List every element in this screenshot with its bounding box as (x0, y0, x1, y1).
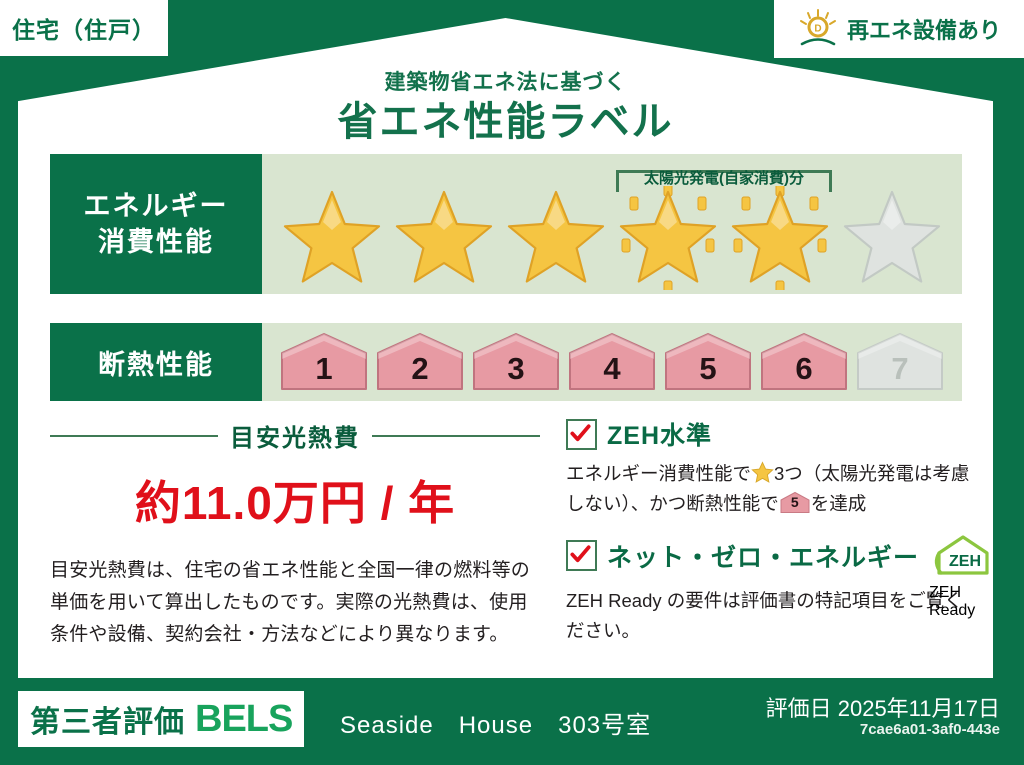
renewable-chip-text: 再エネ設備あり (847, 13, 1001, 45)
house-level-on: 6 (758, 331, 850, 393)
property-name: Seaside House 303号室 (340, 705, 651, 740)
zeh-logo-text: ZEH (949, 553, 981, 570)
label-title-block: 建築物省エネ法に基づく 省エネ性能ラベル (18, 70, 993, 147)
house-level-number: 3 (470, 351, 562, 387)
zeh-ready-logo: ZEH ZEH Ready (929, 533, 1001, 579)
insulation-performance-row: 断熱性能 1 2 3 4 5 (50, 323, 962, 401)
house-level-off: 7 (854, 331, 946, 393)
bels-jp-text: 第三者評価 (30, 697, 185, 741)
checkbox-checked-icon (566, 540, 597, 571)
utility-cost-note: 目安光熱費は、住宅の省エネ性能と全国一律の燃料等の単価を用いて算出したものです。… (50, 555, 540, 651)
sun-icon: D (797, 8, 839, 50)
house-level-number: 4 (566, 351, 658, 387)
star-empty (840, 186, 944, 290)
energy-performance-label: 住宅（住戸） D 再エネ設備あり 建築物省エネ法に基づく (0, 0, 1024, 765)
zeh-standard-header: ZEH水準 (566, 416, 978, 452)
house-level-on: 2 (374, 331, 466, 393)
house-level-on: 1 (278, 331, 370, 393)
insulation-label-text: 断熱性能 (98, 343, 214, 382)
net-zero-energy-item: ネット・ゼロ・エネルギー ZEH ZEH Ready (566, 533, 978, 646)
zeh-standard-description: エネルギー消費性能で3つ（太陽光発電は考慮しない）、かつ断熱性能で5を達成 (566, 459, 978, 519)
utility-cost-value: 約11.0万円 / 年 (50, 467, 540, 533)
star-icon (751, 461, 774, 484)
star-filled (392, 186, 496, 290)
energy-performance-label: エネルギー 消費性能 (50, 154, 262, 294)
house-level-on: 3 (470, 331, 562, 393)
zeh-desc-star-count: 3つ (774, 463, 803, 484)
energy-label-line2: 消費性能 (98, 224, 214, 260)
net-zero-description: ZEH Ready の要件は評価書の特記項目をご覧ください。 (566, 586, 978, 646)
house-level-on: 4 (566, 331, 658, 393)
label-footer: 第三者評価 BELS Seaside House 303号室 評価日 2025年… (0, 679, 1024, 765)
net-zero-title: ネット・ゼロ・エネルギー (607, 538, 919, 574)
rule-right (372, 435, 540, 437)
evaluation-date: 評価日 2025年11月17日 (766, 691, 1000, 723)
star-filled (280, 186, 384, 290)
rule-left (50, 435, 218, 437)
energy-performance-row: エネルギー 消費性能 太陽光発電(自家消費)分 (50, 154, 962, 294)
house-level-number: 2 (374, 351, 466, 387)
zeh-block: ZEH水準 エネルギー消費性能で3つ（太陽光発電は考慮しない）、かつ断熱性能で5… (566, 416, 978, 660)
house-level-number: 5 (779, 491, 811, 514)
label-panel: 建築物省エネ法に基づく 省エネ性能ラベル エネルギー 消費性能 太陽光発電(自家… (18, 18, 993, 678)
house-level-number: 6 (758, 351, 850, 387)
zeh-standard-item: ZEH水準 エネルギー消費性能で3つ（太陽光発電は考慮しない）、かつ断熱性能で5… (566, 416, 978, 519)
house-level-number: 7 (854, 351, 946, 387)
house-level-icon: 5 (779, 491, 811, 514)
insulation-performance-label: 断熱性能 (50, 323, 262, 401)
utility-cost-heading: 目安光熱費 (50, 418, 540, 453)
utility-cost-heading-text: 目安光熱費 (230, 418, 360, 453)
renewable-equipment-chip: D 再エネ設備あり (774, 0, 1024, 58)
house-level-number: 5 (662, 351, 754, 387)
star-rating (262, 186, 962, 290)
star-filled (728, 186, 832, 290)
solar-bracket-label: 太陽光発電(自家消費)分 (619, 167, 829, 188)
building-type-text: 住宅（住戸） (12, 11, 156, 45)
zeh-standard-title: ZEH水準 (607, 416, 712, 452)
energy-label-line1: エネルギー (84, 188, 229, 224)
zeh-sub-line1: ZEH (929, 584, 961, 601)
zeh-sub-line2: Ready (929, 602, 975, 619)
star-filled (504, 186, 608, 290)
insulation-rating-area: 1 2 3 4 5 6 7 (262, 323, 962, 401)
utility-cost-block: 目安光熱費 約11.0万円 / 年 目安光熱費は、住宅の省エネ性能と全国一律の燃… (50, 418, 540, 651)
house-rating-scale: 1 2 3 4 5 6 7 (262, 323, 962, 401)
zeh-desc-part1: エネルギー消費性能で (566, 463, 751, 484)
page-title: 省エネ性能ラベル (18, 97, 993, 147)
star-filled (616, 186, 720, 290)
evaluation-id: 7cae6a01-3af0-443e (860, 721, 1000, 738)
energy-rating-area: 太陽光発電(自家消費)分 (262, 154, 962, 294)
checkbox-checked-icon (566, 419, 597, 450)
building-type-chip: 住宅（住戸） (0, 0, 168, 56)
bels-en-text: BELS (195, 698, 292, 741)
house-level-on: 5 (662, 331, 754, 393)
zeh-desc-part3: を達成 (811, 493, 867, 514)
net-zero-header: ネット・ゼロ・エネルギー ZEH ZEH Ready (566, 533, 978, 579)
title-subtitle: 建築物省エネ法に基づく (18, 70, 993, 95)
house-level-number: 1 (278, 351, 370, 387)
svg-text:D: D (814, 24, 821, 35)
bels-badge: 第三者評価 BELS (18, 691, 304, 747)
